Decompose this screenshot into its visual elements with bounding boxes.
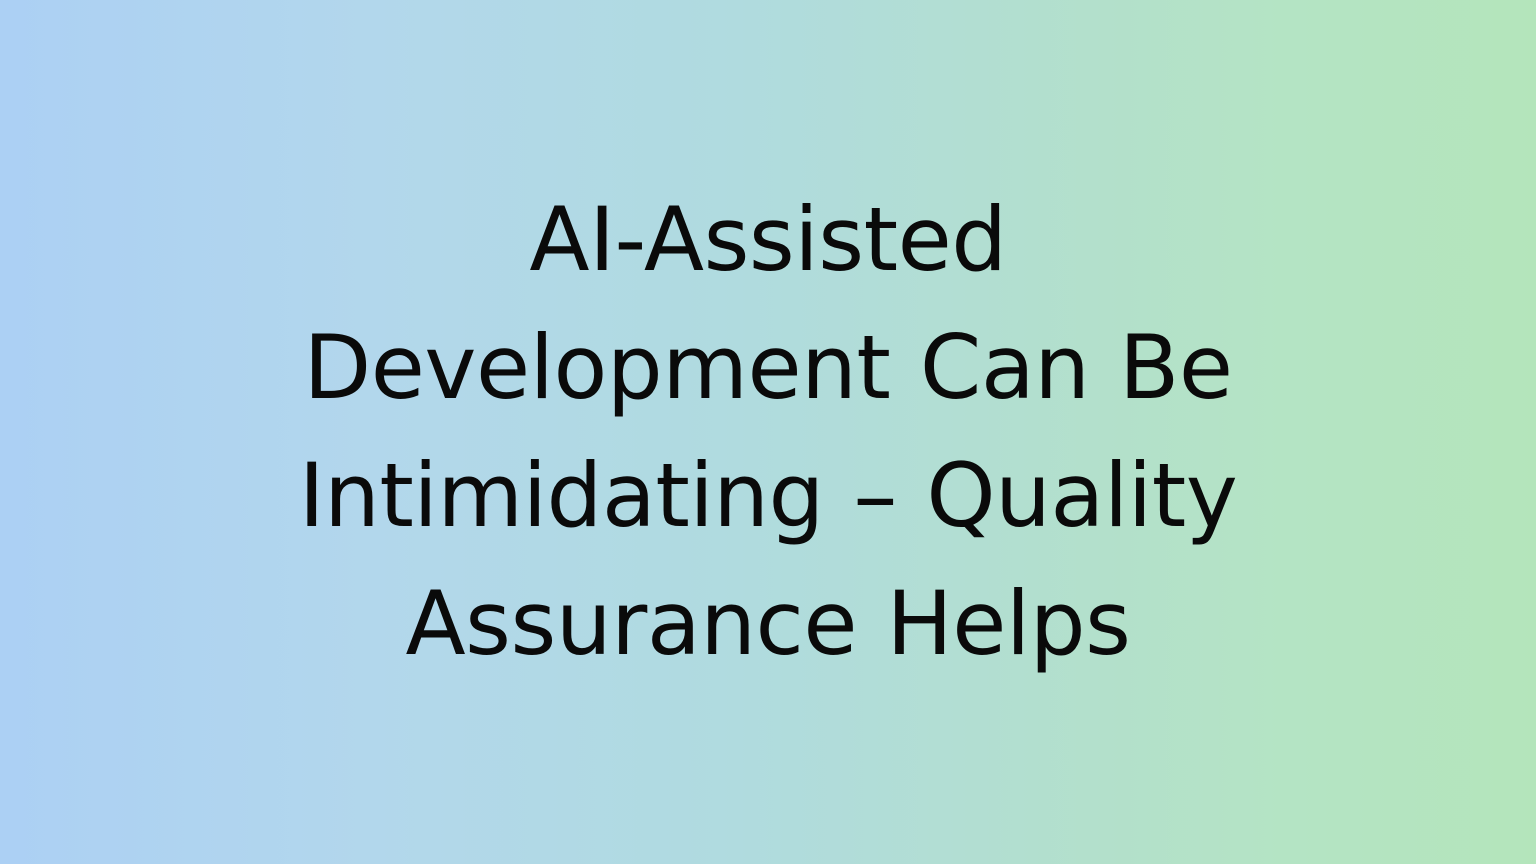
headline-line-4: Assurance Helps bbox=[234, 560, 1302, 688]
headline-line-1: AI-Assisted bbox=[234, 176, 1302, 304]
headline-line-2: Development Can Be bbox=[234, 304, 1302, 432]
banner-card: AI-Assisted Development Can Be Intimidat… bbox=[0, 0, 1536, 864]
headline-title: AI-Assisted Development Can Be Intimidat… bbox=[234, 176, 1302, 688]
headline-container: AI-Assisted Development Can Be Intimidat… bbox=[218, 176, 1318, 688]
headline-line-3: Intimidating – Quality bbox=[234, 432, 1302, 560]
